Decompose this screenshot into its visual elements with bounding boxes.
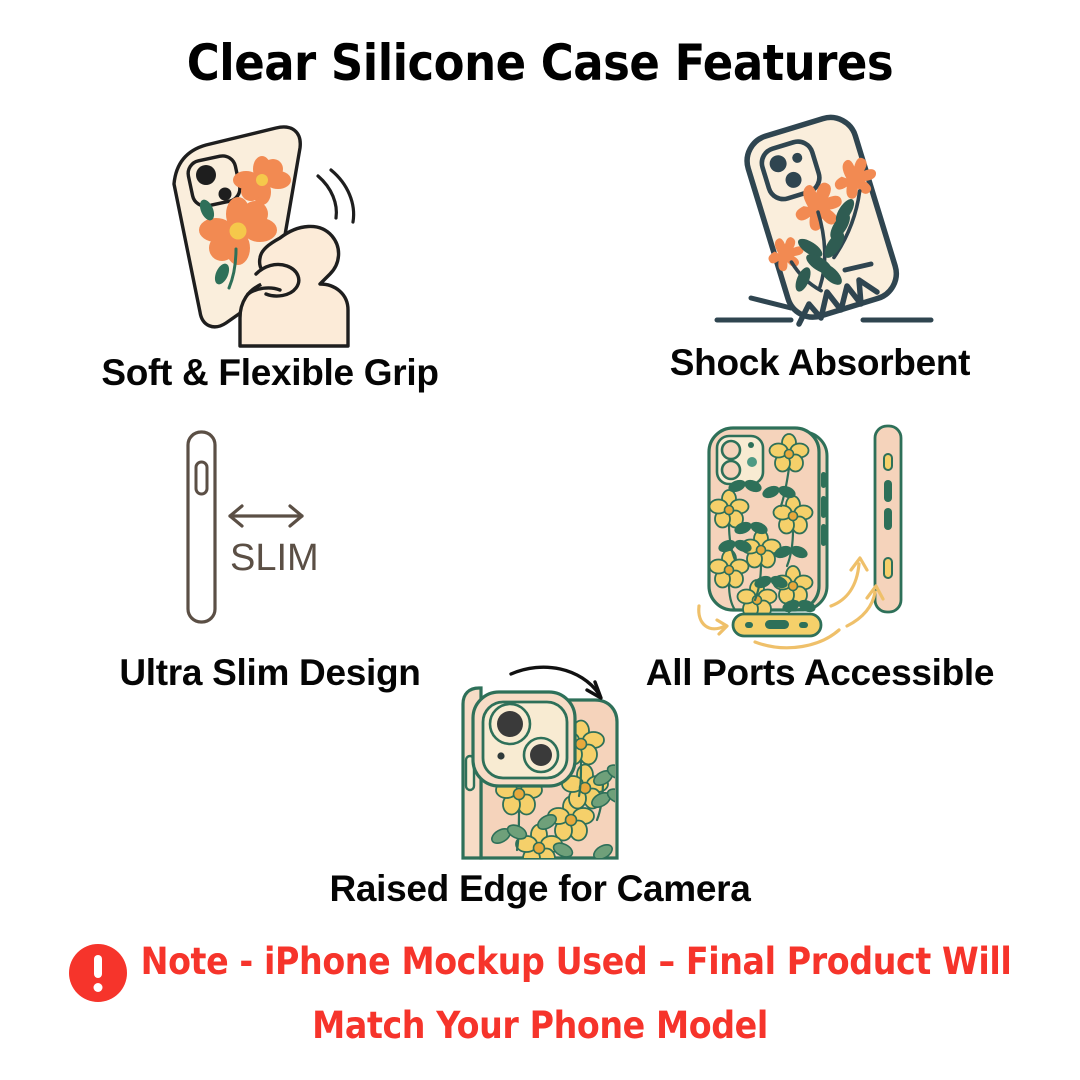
feature-ultra-slim-design: SLIM Ultra Slim Design [20,420,520,694]
feature-infographic-page: Clear Silicone Case Features [0,0,1080,1080]
double-arrow-icon [230,506,302,526]
exclamation-circle-icon [69,944,127,1002]
note-line-1: Note - iPhone Mockup Used – Final Produc… [141,938,1012,985]
feature-soft-flexible-grip: Soft & Flexible Grip [20,118,520,394]
note-line-2: Match Your Phone Model [312,1004,768,1047]
feature-all-ports-accessible: All Ports Accessible [600,410,1040,694]
feature-shock-absorbent: Shock Absorbent [600,112,1040,384]
phone-side-rail-ports [875,426,901,612]
feature-label-raised-edge-for-camera: Raised Edge for Camera [290,868,790,910]
phone-side-profile-slim-icon: SLIM [20,420,520,638]
feature-label-shock-absorbent: Shock Absorbent [600,342,1040,384]
page-title: Clear Silicone Case Features [0,34,1080,92]
raised-camera-bump-icon [290,660,790,858]
phone-drop-impact-icon [600,112,1040,340]
feature-label-soft-flexible-grip: Soft & Flexible Grip [20,352,520,394]
phone-bottom-edge-ports [733,614,821,636]
phone-ports-cutouts-icon [600,410,1040,642]
slim-callout-text: SLIM [230,537,319,579]
hand-flexing-phone-case-icon [20,118,520,346]
note-disclaimer: Note - iPhone Mockup Used – Final Produc… [0,938,1080,1047]
feature-raised-edge-for-camera: Raised Edge for Camera [290,660,790,910]
